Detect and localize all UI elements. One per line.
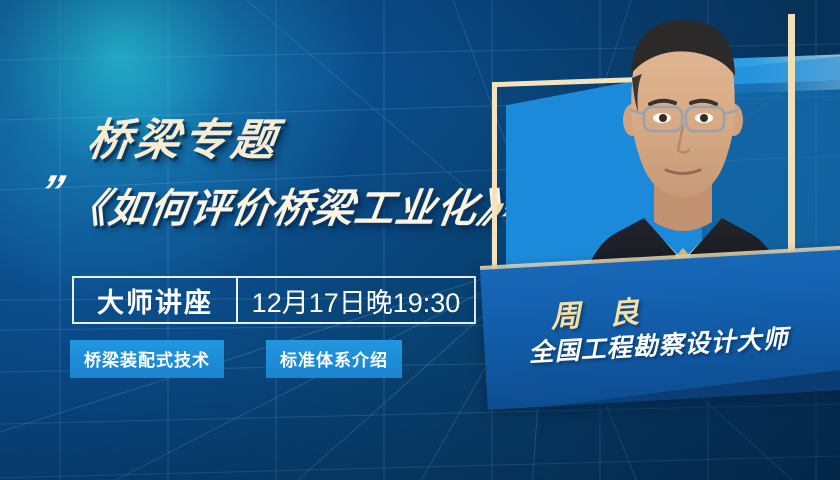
speaker-composition: 周 良 全国工程勘察设计大师 [470, 0, 840, 480]
lecture-label: 大师讲座 [74, 278, 238, 322]
topic-tag: 标准体系介绍 [266, 340, 402, 378]
quote-open-icon: ” [34, 168, 66, 214]
lecture-info-bar: 大师讲座 12月17日晚19:30 [72, 276, 476, 324]
poster-headline: 《如何评价桥梁工业化》 [64, 176, 523, 234]
speaker-nameplate: 周 良 全国工程勘察设计大师 [480, 249, 840, 410]
promo-poster: ” 桥梁专题 《如何评价桥梁工业化》 ” 大师讲座 12月17日晚19:30 桥… [0, 0, 840, 480]
left-text-block: ” 桥梁专题 《如何评价桥梁工业化》 ” 大师讲座 12月17日晚19:30 桥… [0, 0, 520, 480]
topic-tag-list: 桥梁装配式技术 标准体系介绍 [70, 340, 402, 378]
poster-kicker: 桥梁专题 [84, 104, 285, 168]
topic-tag: 桥梁装配式技术 [70, 340, 224, 378]
lecture-datetime: 12月17日晚19:30 [238, 278, 474, 322]
